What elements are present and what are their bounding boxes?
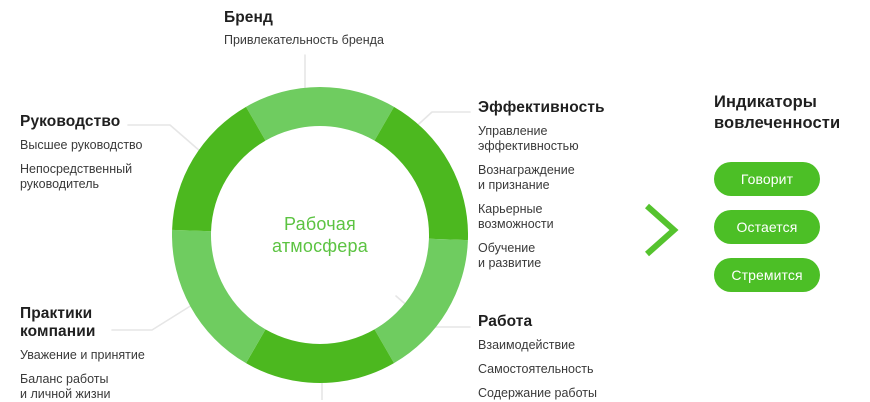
diagram-canvas: Рабочая атмосфера Бренд Привлекательност… <box>0 0 870 400</box>
chevron-right-icon <box>641 200 683 260</box>
panel-title: Индикаторы вовлеченности <box>714 92 864 134</box>
label-group-brand: Бренд Привлекательность бренда <box>224 8 434 48</box>
donut-chart: Рабочая атмосфера <box>172 87 468 383</box>
donut-segment-brand <box>246 87 394 141</box>
label-item-work-2: Содержание работы <box>478 386 648 401</box>
label-group-practices: Практики компании Уважение и принятие Ба… <box>20 305 180 402</box>
label-item-performance-3: Обучение и развитие <box>478 241 638 271</box>
label-group-performance: Эффективность Управление эффективностью … <box>478 98 638 271</box>
label-title-work: Работа <box>478 312 648 331</box>
donut-segment-practices <box>172 230 266 363</box>
donut-segment-work <box>375 239 468 363</box>
label-group-leadership: Руководство Высшее руководство Непосредс… <box>20 112 170 192</box>
label-group-work: Работа Взаимодействие Самостоятельность … <box>478 312 648 401</box>
label-item-performance-1: Вознаграждение и признание <box>478 163 638 193</box>
donut-segment-bottom <box>246 329 394 383</box>
label-item-leadership-1: Непосредственный руководитель <box>20 162 170 192</box>
indicator-pill-strives[interactable]: Стремится <box>714 258 820 292</box>
donut-segment-performance <box>375 107 469 240</box>
label-item-performance-0: Управление эффективностью <box>478 124 638 154</box>
label-item-practices-0: Уважение и принятие <box>20 348 180 363</box>
label-title-leadership: Руководство <box>20 112 170 131</box>
label-item-work-1: Самостоятельность <box>478 362 648 377</box>
label-item-work-0: Взаимодействие <box>478 338 648 353</box>
indicator-pill-says[interactable]: Говорит <box>714 162 820 196</box>
label-title-practices: Практики компании <box>20 305 180 341</box>
indicator-pill-stays[interactable]: Остается <box>714 210 820 244</box>
label-item-practices-1: Баланс работы и личной жизни <box>20 372 180 402</box>
engagement-indicators-panel: Индикаторы вовлеченности Говорит Остаетс… <box>714 92 864 292</box>
label-title-brand: Бренд <box>224 8 434 27</box>
donut-segment-leadership <box>172 107 265 231</box>
label-item-performance-2: Карьерные возможности <box>478 202 638 232</box>
label-item-brand-0: Привлекательность бренда <box>224 33 434 48</box>
donut-svg <box>172 87 468 383</box>
label-item-leadership-0: Высшее руководство <box>20 138 170 153</box>
label-title-performance: Эффективность <box>478 98 638 117</box>
